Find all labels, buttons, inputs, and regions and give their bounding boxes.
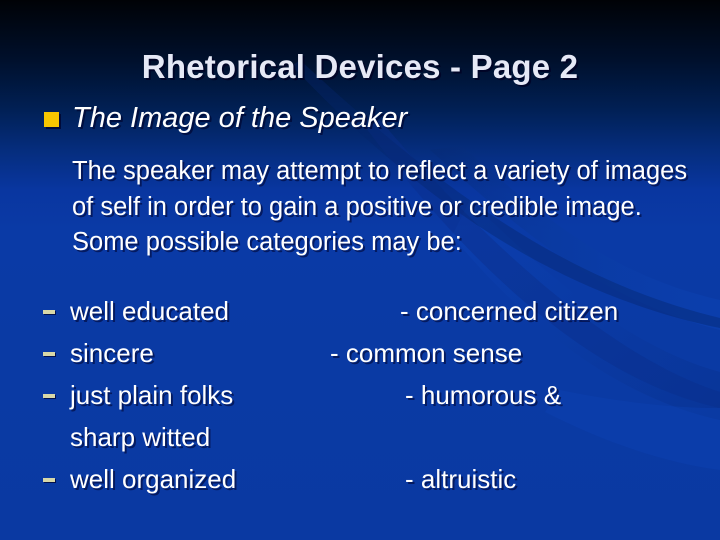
bullet-heading-label: The Image of the Speaker [72,102,407,135]
slide-title: Rhetorical Devices - Page 2 [0,48,720,86]
list-item-right-label: - common sense [330,338,522,369]
list-item: sincere - common sense [40,338,705,380]
list-item: well organized - altruistic [40,464,705,506]
list-item: just plain folks - humorous & [40,380,705,422]
list-item-left-label: sharp witted [70,422,210,453]
dash-list: well educated - concerned citizen sincer… [40,296,705,506]
list-item-right-label: - humorous & [405,380,561,411]
slide-canvas: Rhetorical Devices - Page 2 The Image of… [0,0,720,540]
square-bullet-icon [44,112,59,127]
list-item-continuation: sharp witted [40,422,705,464]
list-item-left-label: well organized [70,464,236,495]
list-item: well educated - concerned citizen [40,296,705,338]
dash-bullet-icon [43,394,55,398]
dash-bullet-icon [43,478,55,482]
dash-bullet-icon [43,310,55,314]
dash-bullet-icon [43,352,55,356]
list-item-right-label: - concerned citizen [400,296,618,327]
bullet-heading-row: The Image of the Speaker [44,102,407,135]
list-item-right-label: - altruistic [405,464,516,495]
list-item-left-label: just plain folks [70,380,233,411]
body-paragraph: The speaker may attempt to reflect a var… [72,154,690,261]
list-item-left-label: well educated [70,296,229,327]
list-item-left-label: sincere [70,338,154,369]
